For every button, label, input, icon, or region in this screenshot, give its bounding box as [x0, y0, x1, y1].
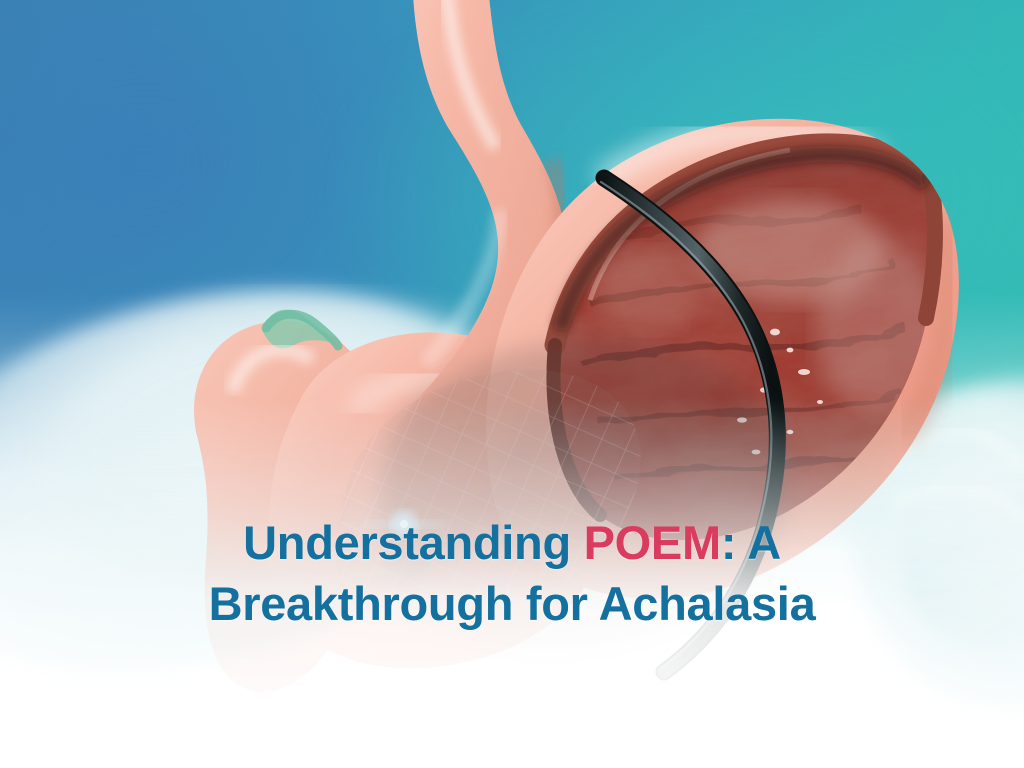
stomach-illustration: [0, 0, 1024, 768]
title-segment-after: : A: [721, 516, 781, 569]
title-segment-before: Understanding: [243, 516, 583, 569]
page-title: Understanding POEM: A Breakthrough for A…: [0, 512, 1024, 634]
page-title-line-1: Understanding POEM: A: [0, 512, 1024, 573]
title-accent-poem: POEM: [584, 516, 721, 569]
page-title-line-2: Breakthrough for Achalasia: [0, 573, 1024, 634]
poster-canvas: Understanding POEM: A Breakthrough for A…: [0, 0, 1024, 768]
